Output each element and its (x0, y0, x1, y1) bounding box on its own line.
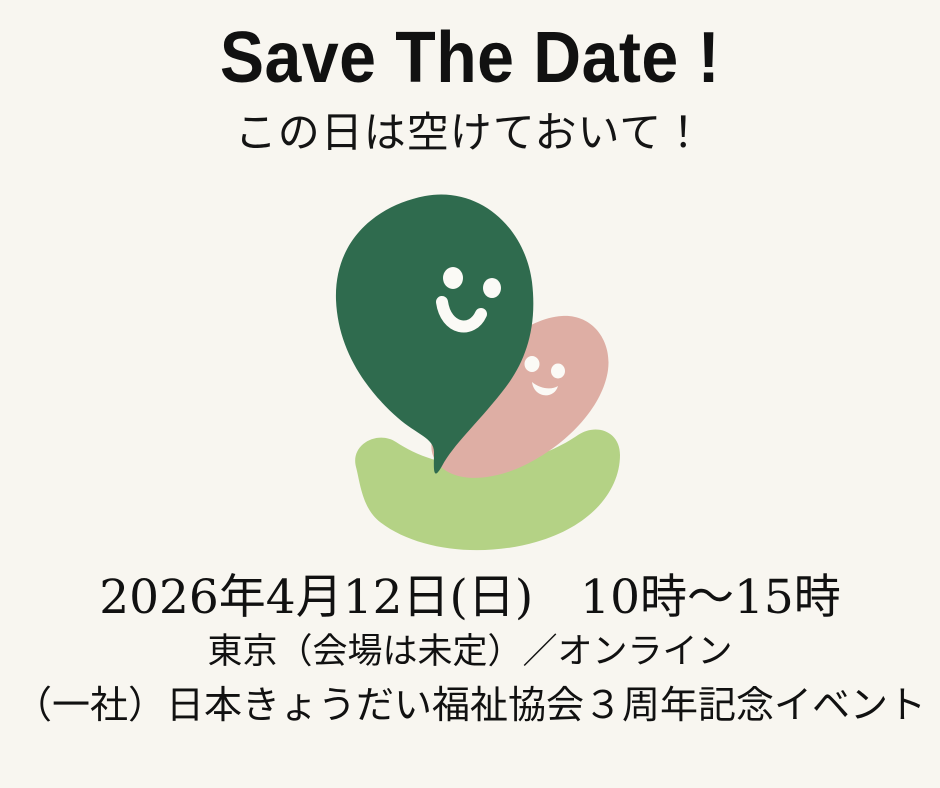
footer-block: 2026年4月12日(日) 10時〜15時 東京（会場は未定）／オンライン （一… (0, 560, 940, 729)
logo-svg (320, 190, 620, 560)
poster-canvas: Save The Date ! この日は空けておいて！ 2026年4月12日(日… (0, 0, 940, 788)
green-figure-left-eye (443, 267, 463, 289)
event-organizer: （一社）日本きょうだい福祉協会３周年記念イベント (0, 673, 940, 729)
pink-figure-right-eye (551, 364, 565, 379)
page-subtitle: この日は空けておいて！ (0, 94, 940, 154)
logo-illustration (0, 190, 940, 560)
headline-block: Save The Date ! この日は空けておいて！ (0, 0, 940, 154)
event-date-time: 2026年4月12日(日) 10時〜15時 (0, 560, 940, 625)
pink-figure-left-eye (525, 356, 540, 372)
event-venue: 東京（会場は未定）／オンライン (0, 625, 940, 673)
green-figure-right-eye (483, 278, 501, 298)
page-title: Save The Date ! (38, 0, 903, 94)
